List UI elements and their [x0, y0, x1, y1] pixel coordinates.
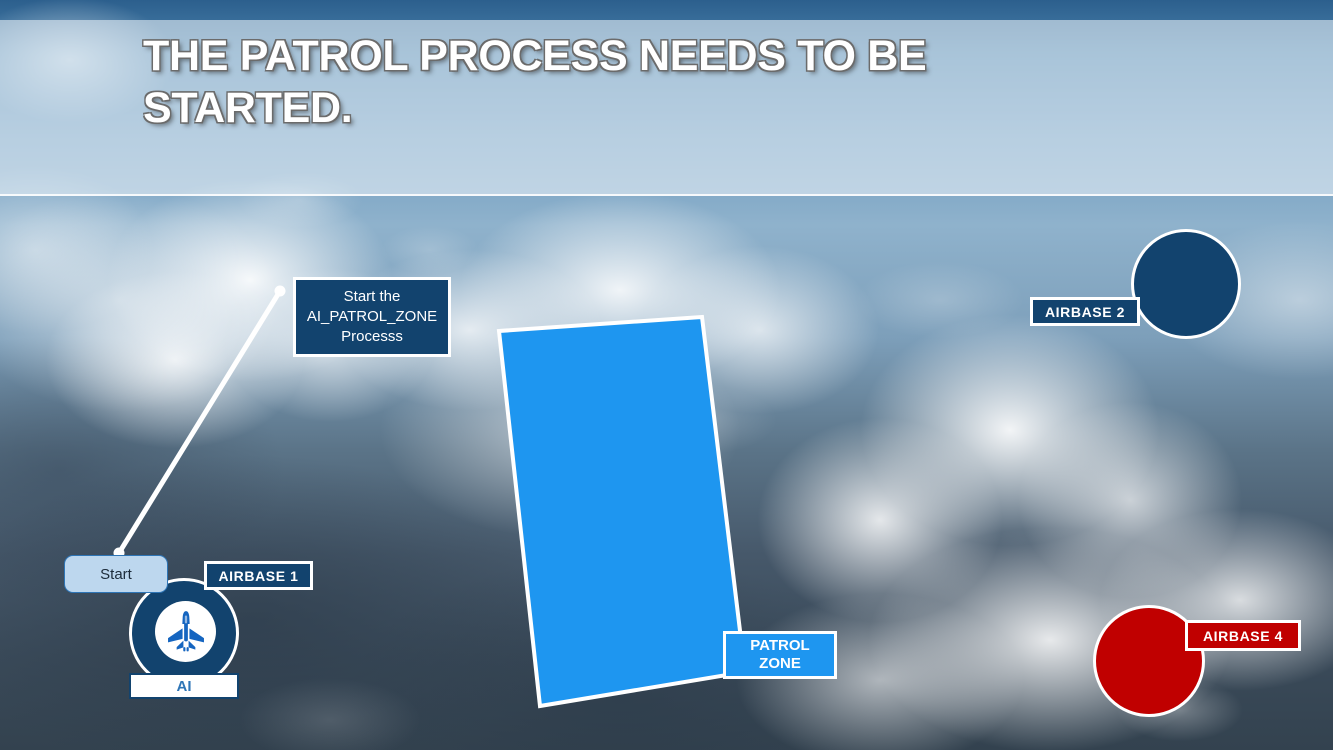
callout-start-patrol-process[interactable]: Start the AI_PATROL_ZONE Processs — [293, 277, 451, 357]
airbase-1-label[interactable]: AIRBASE 1 — [204, 561, 313, 590]
page-title: THE PATROL PROCESS NEEDS TO BE STARTED. — [143, 30, 1193, 135]
slide-canvas: THE PATROL PROCESS NEEDS TO BE STARTED. … — [0, 0, 1333, 750]
airbase-2-marker[interactable] — [1131, 229, 1241, 339]
fighter-jet-icon — [163, 609, 209, 655]
ai-jet-badge — [155, 601, 216, 662]
airbase-4-label[interactable]: AIRBASE 4 — [1185, 620, 1301, 651]
ai-unit-label[interactable]: AI — [129, 673, 239, 699]
airbase-2-label[interactable]: AIRBASE 2 — [1030, 297, 1140, 326]
patrol-zone-label[interactable]: PATROL ZONE — [723, 631, 837, 679]
start-node[interactable]: Start — [64, 555, 168, 593]
